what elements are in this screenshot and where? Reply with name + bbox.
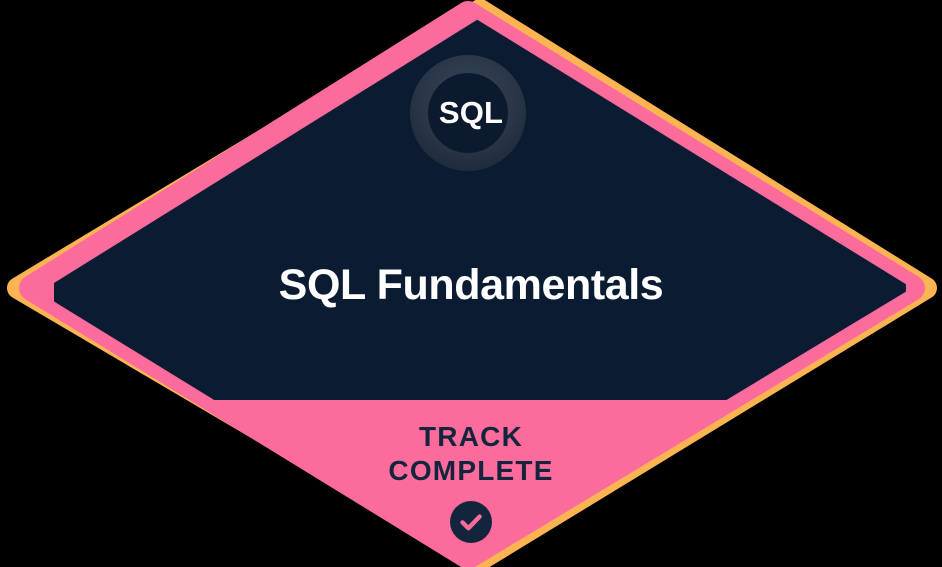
track-completion-badge: SQL SQL Fundamentals TRACK COMPLETE	[0, 0, 942, 567]
skill-badge-center	[428, 73, 508, 153]
badge-artwork	[0, 0, 942, 567]
